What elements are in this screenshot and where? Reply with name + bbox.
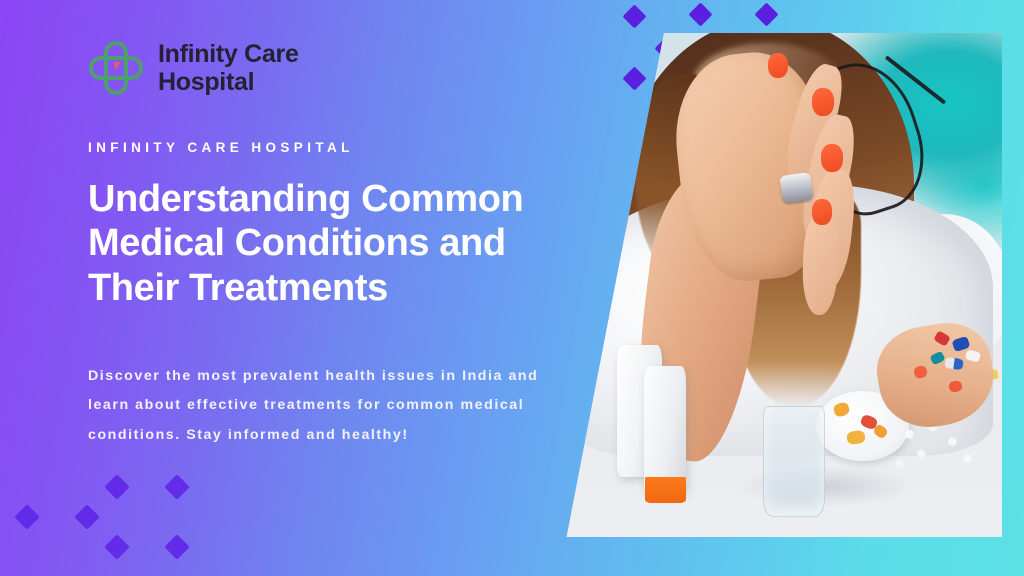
water-glass (763, 406, 825, 517)
diamond-icon (164, 534, 189, 559)
hero-photo-image (560, 33, 1002, 537)
fingernail (768, 53, 788, 78)
pill-bottle-front (644, 366, 686, 492)
fingernail (821, 144, 843, 172)
diamond-icon (754, 2, 778, 26)
hero-photo (560, 33, 1002, 537)
body-description: Discover the most prevalent health issue… (88, 362, 568, 449)
page-title: Understanding Common Medical Conditions … (88, 177, 558, 310)
finger-ring (779, 172, 813, 204)
content-column: Infinity Care Hospital INFINITY CARE HOS… (88, 40, 568, 450)
brand-logo[interactable]: Infinity Care Hospital (88, 40, 568, 96)
pill-capsule (944, 356, 963, 369)
diamond-icon (104, 474, 129, 499)
diamond-icon (74, 504, 99, 529)
eyebrow-label: INFINITY CARE HOSPITAL (88, 140, 568, 155)
diamond-icon (14, 504, 39, 529)
diamond-icon (164, 474, 189, 499)
fingernail (812, 199, 832, 224)
promo-banner: Infinity Care Hospital INFINITY CARE HOS… (0, 0, 1024, 576)
fingernail (812, 88, 834, 116)
diamond-icon (104, 534, 129, 559)
diamond-icon (688, 2, 712, 26)
diamond-icon (622, 66, 646, 90)
diamond-icon (622, 4, 646, 28)
brand-logo-text: Infinity Care Hospital (158, 40, 299, 96)
pill-bottle-cap (645, 477, 686, 503)
medical-cross-logo-icon (88, 40, 144, 96)
